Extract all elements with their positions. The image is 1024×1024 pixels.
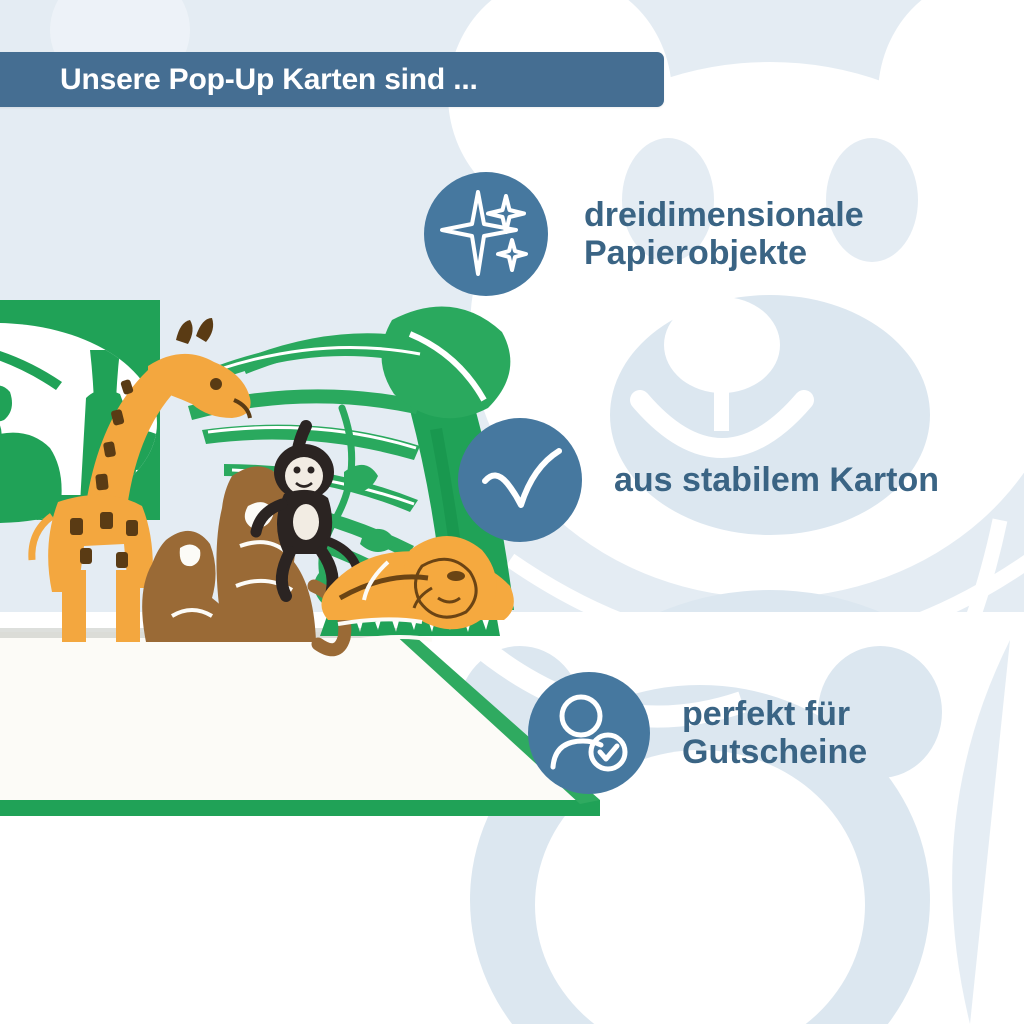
feature-dreidimensionale: dreidimensionale Papierobjekte bbox=[424, 172, 864, 296]
feature-gutscheine: perfekt für Gutscheine bbox=[528, 672, 867, 794]
sparkles-icon bbox=[440, 188, 532, 280]
header-banner: Unsere Pop-Up Karten sind ... bbox=[0, 52, 664, 107]
user-check-icon bbox=[545, 689, 633, 777]
feature-label-dreidimensionale: dreidimensionale Papierobjekte bbox=[584, 196, 864, 272]
check-icon bbox=[477, 437, 563, 523]
header-banner-label: Unsere Pop-Up Karten sind ... bbox=[60, 65, 478, 95]
page-root: Unsere Pop-Up Karten sind ... dreidimens… bbox=[0, 0, 1024, 1024]
jungle-pop-up-card-image bbox=[0, 280, 620, 840]
feature-label-gutscheine: perfekt für Gutscheine bbox=[682, 695, 867, 771]
feature-badge-sparkles bbox=[424, 172, 548, 296]
feature-stabiler-karton: aus stabilem Karton bbox=[458, 418, 939, 542]
feature-label-stabiler-karton: aus stabilem Karton bbox=[614, 461, 939, 499]
card-base-front-edge bbox=[0, 800, 600, 816]
card-base-panel bbox=[0, 632, 600, 808]
feature-badge-check bbox=[458, 418, 582, 542]
feature-badge-user-check bbox=[528, 672, 650, 794]
